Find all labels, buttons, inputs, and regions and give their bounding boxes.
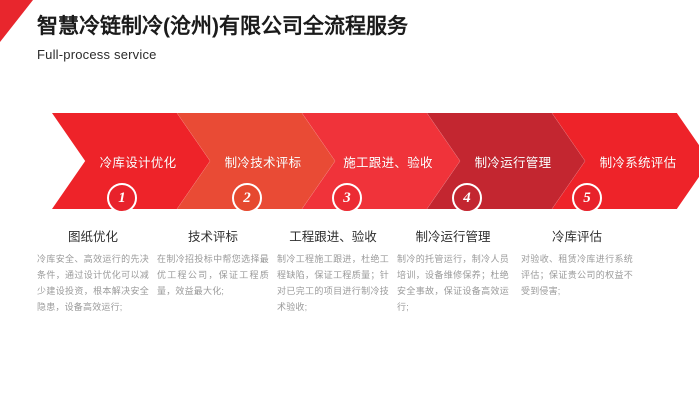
process-chevron-label-2: 制冷技术评标: [225, 152, 302, 171]
process-column-title-1: 图纸优化: [37, 228, 149, 246]
step-badge-number-2: 2: [243, 190, 251, 207]
page-header: 智慧冷链制冷(沧州)有限公司全流程服务 Full-process service: [37, 13, 677, 62]
process-chevron-label-1: 冷库设计优化: [100, 152, 177, 171]
process-column-4: 制冷运行管理 制冷的托管运行，制冷人员培训，设备维修保养；杜绝安全事故，保证设备…: [397, 228, 509, 315]
process-column-5: 冷库评估 对验收、租赁冷库进行系统评估；保证贵公司的权益不受到侵害;: [521, 228, 633, 299]
step-badge-1: 1: [107, 183, 137, 213]
process-column-body-5: 对验收、租赁冷库进行系统评估；保证贵公司的权益不受到侵害;: [521, 251, 633, 299]
corner-decoration-triangle: [0, 0, 33, 42]
step-badge-number-5: 5: [583, 190, 591, 207]
process-column-body-3: 制冷工程施工跟进，杜绝工程缺陷，保证工程质量；针对已完工的项目进行制冷技术验收;: [277, 251, 389, 315]
process-column-title-4: 制冷运行管理: [397, 228, 509, 246]
process-column-body-4: 制冷的托管运行，制冷人员培训，设备维修保养；杜绝安全事故，保证设备高效运行;: [397, 251, 509, 315]
process-column-2: 技术评标 在制冷招投标中帮您选择最优工程公司，保证工程质量，效益最大化;: [157, 228, 269, 299]
process-chevron-label-4: 制冷运行管理: [475, 152, 552, 171]
page-title: 智慧冷链制冷(沧州)有限公司全流程服务: [37, 13, 677, 41]
process-column-1: 图纸优化 冷库安全、高效运行的先决条件，通过设计优化可以减少建设投资，根本解决安…: [37, 228, 149, 315]
process-column-title-5: 冷库评估: [521, 228, 633, 246]
process-column-body-1: 冷库安全、高效运行的先决条件，通过设计优化可以减少建设投资，根本解决安全隐患，设…: [37, 251, 149, 315]
process-column-title-3: 工程跟进、验收: [277, 228, 389, 246]
page-subtitle: Full-process service: [37, 47, 677, 62]
step-badge-number-3: 3: [343, 190, 351, 207]
process-description-columns: 图纸优化 冷库安全、高效运行的先决条件，通过设计优化可以减少建设投资，根本解决安…: [0, 228, 699, 368]
step-badge-number-4: 4: [463, 190, 471, 207]
step-badge-4: 4: [452, 183, 482, 213]
process-column-3: 工程跟进、验收 制冷工程施工跟进，杜绝工程缺陷，保证工程质量；针对已完工的项目进…: [277, 228, 389, 315]
step-badge-5: 5: [572, 183, 602, 213]
step-badge-number-1: 1: [118, 190, 126, 207]
process-chevron-label-5: 制冷系统评估: [600, 152, 677, 171]
step-badge-2: 2: [232, 183, 262, 213]
process-chevron-label-3: 施工跟进、验收: [343, 152, 433, 171]
step-badge-3: 3: [332, 183, 362, 213]
process-column-title-2: 技术评标: [157, 228, 269, 246]
process-column-body-2: 在制冷招投标中帮您选择最优工程公司，保证工程质量，效益最大化;: [157, 251, 269, 299]
